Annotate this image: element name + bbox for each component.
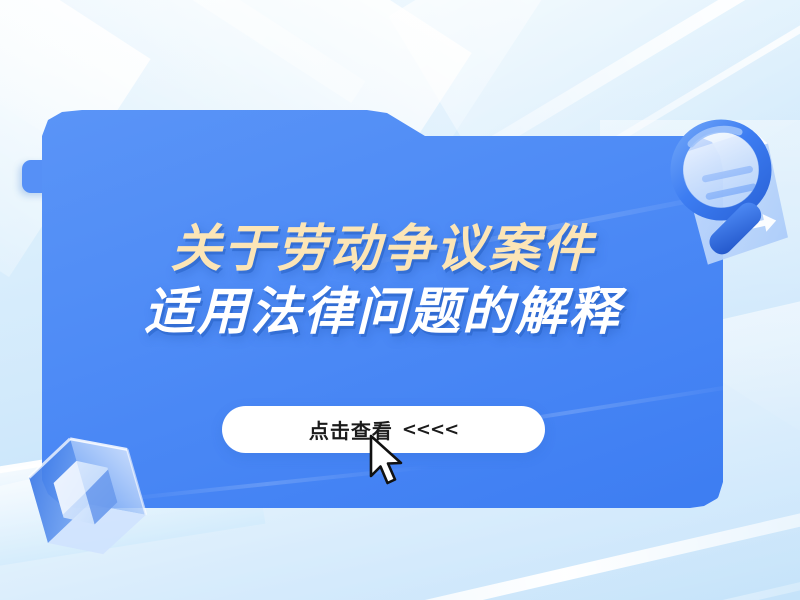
cta-label: 点击查看 [309,415,393,444]
card-sheen-1 [345,185,758,270]
glass-streak-topleft [0,0,365,103]
card-sheen-3 [103,465,432,503]
glass-streak-bottom-2 [0,540,800,600]
view-details-button[interactable]: 点击查看 <<<< [222,406,545,453]
poster-canvas: 关于劳动争议案件 适用法律问题的解释 点击查看 <<<< [0,0,800,600]
chevron-left-icon: <<<< [402,419,458,440]
